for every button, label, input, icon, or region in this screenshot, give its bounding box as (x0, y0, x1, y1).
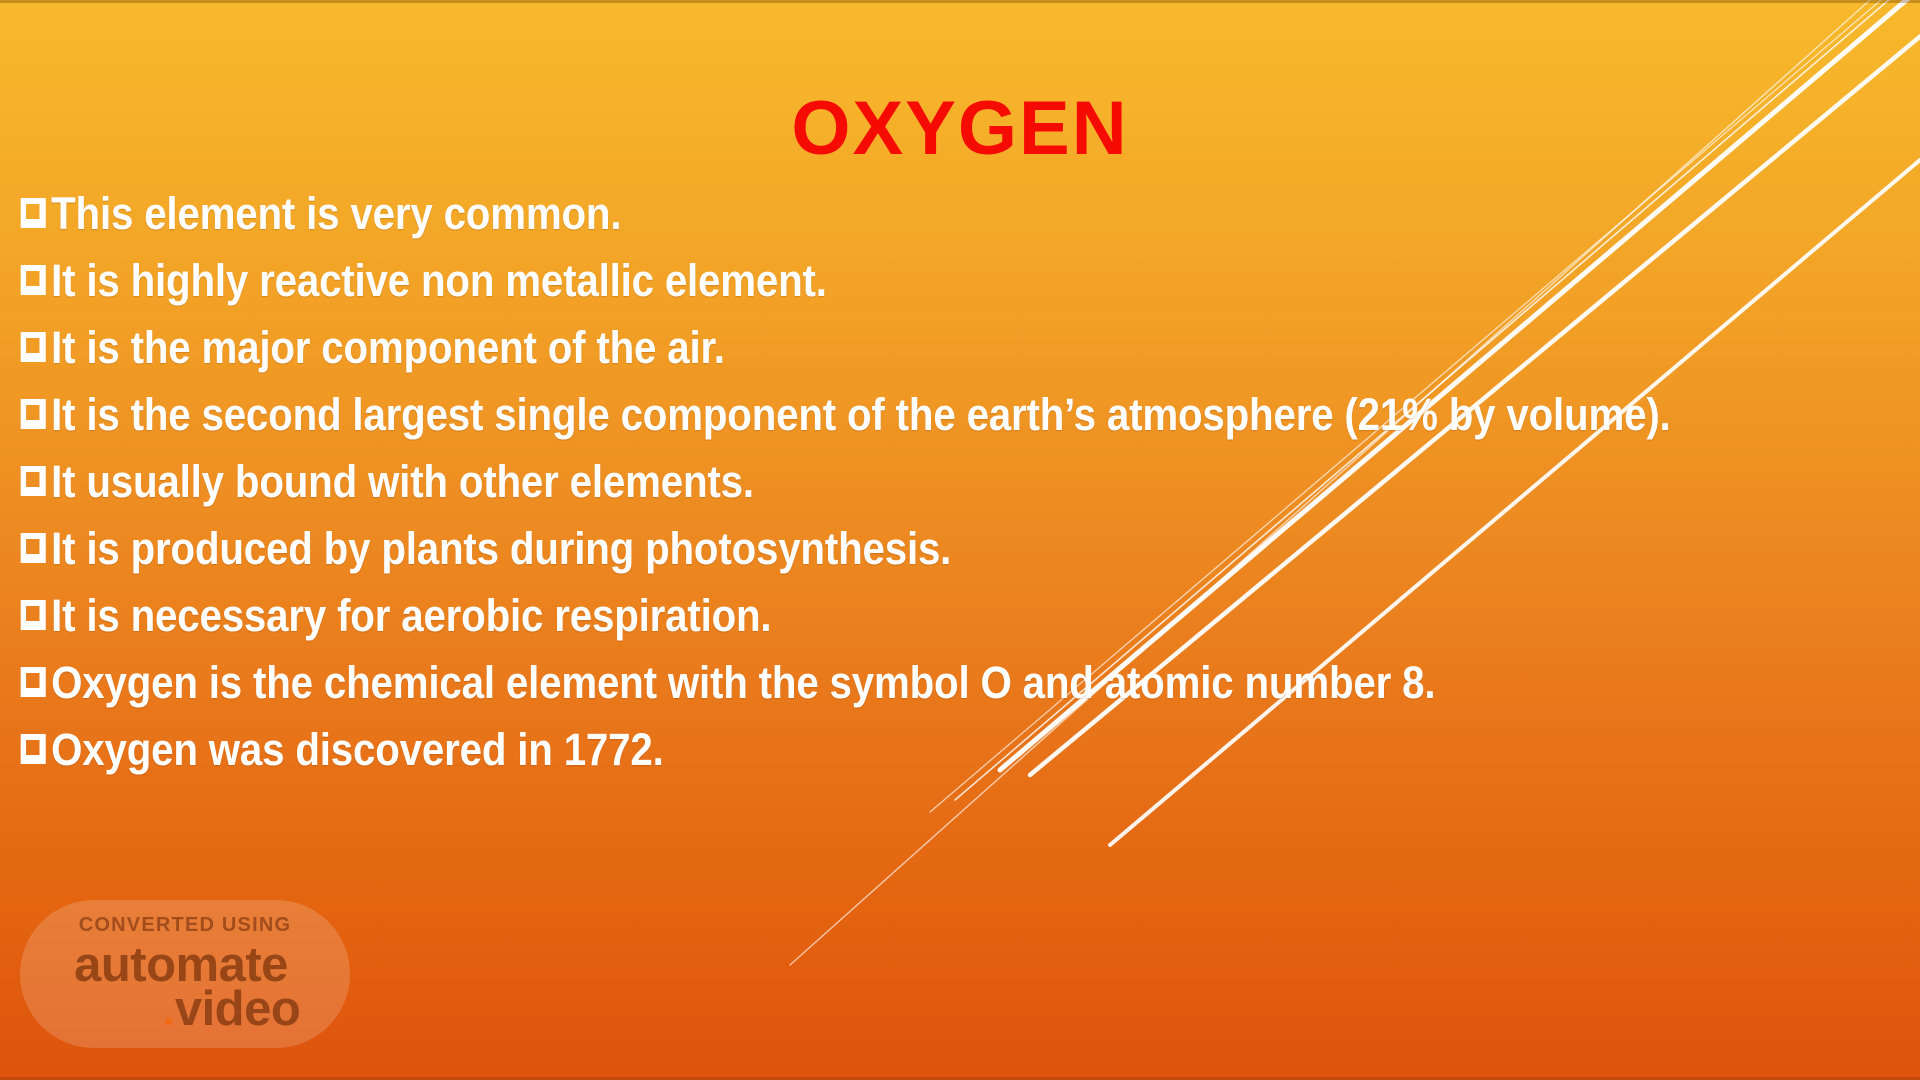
slide-title: OXYGEN (0, 91, 1920, 167)
list-item-label: It is the second largest single componen… (51, 381, 1670, 448)
list-item-label: It usually bound with other elements. (51, 448, 754, 515)
watermark-brand-tld: .video (162, 985, 301, 1033)
list-item: It usually bound with other elements. (18, 448, 1710, 515)
hollow-square-bullet-icon (18, 515, 50, 582)
hollow-square-bullet-icon (18, 582, 50, 649)
slide-canvas: OXYGEN This element is very common. It i… (0, 0, 1920, 1080)
list-item-label: Oxygen is the chemical element with the … (51, 649, 1435, 716)
watermark-caption: CONVERTED USING (79, 915, 291, 935)
list-item: Oxygen is the chemical element with the … (18, 649, 1710, 716)
hollow-square-bullet-icon (18, 649, 50, 716)
watermark-tld-label: video (175, 982, 300, 1036)
hollow-square-bullet-icon (18, 247, 50, 314)
hollow-square-bullet-icon (18, 381, 50, 448)
hollow-square-bullet-icon (18, 448, 50, 515)
list-item: Oxygen was discovered in 1772. (18, 716, 1710, 783)
bullet-list: This element is very common. It is highl… (18, 180, 1908, 783)
hollow-square-bullet-icon (18, 716, 50, 783)
hollow-square-bullet-icon (18, 180, 50, 247)
list-item: It is the second largest single componen… (18, 381, 1710, 448)
list-item-label: This element is very common. (51, 180, 621, 247)
list-item: It is necessary for aerobic respiration. (18, 582, 1710, 649)
hollow-square-bullet-icon (18, 314, 50, 381)
list-item: It is highly reactive non metallic eleme… (18, 247, 1710, 314)
automate-video-watermark[interactable]: CONVERTED USING automate .video (20, 900, 350, 1048)
list-item: This element is very common. (18, 180, 1710, 247)
list-item-label: It is highly reactive non metallic eleme… (51, 247, 827, 314)
watermark-dot: . (162, 982, 175, 1036)
list-item-label: It is the major component of the air. (51, 314, 725, 381)
list-item-label: Oxygen was discovered in 1772. (51, 716, 663, 783)
list-item: It is produced by plants during photosyn… (18, 515, 1710, 582)
list-item-label: It is produced by plants during photosyn… (51, 515, 951, 582)
list-item: It is the major component of the air. (18, 314, 1710, 381)
list-item-label: It is necessary for aerobic respiration. (51, 582, 771, 649)
